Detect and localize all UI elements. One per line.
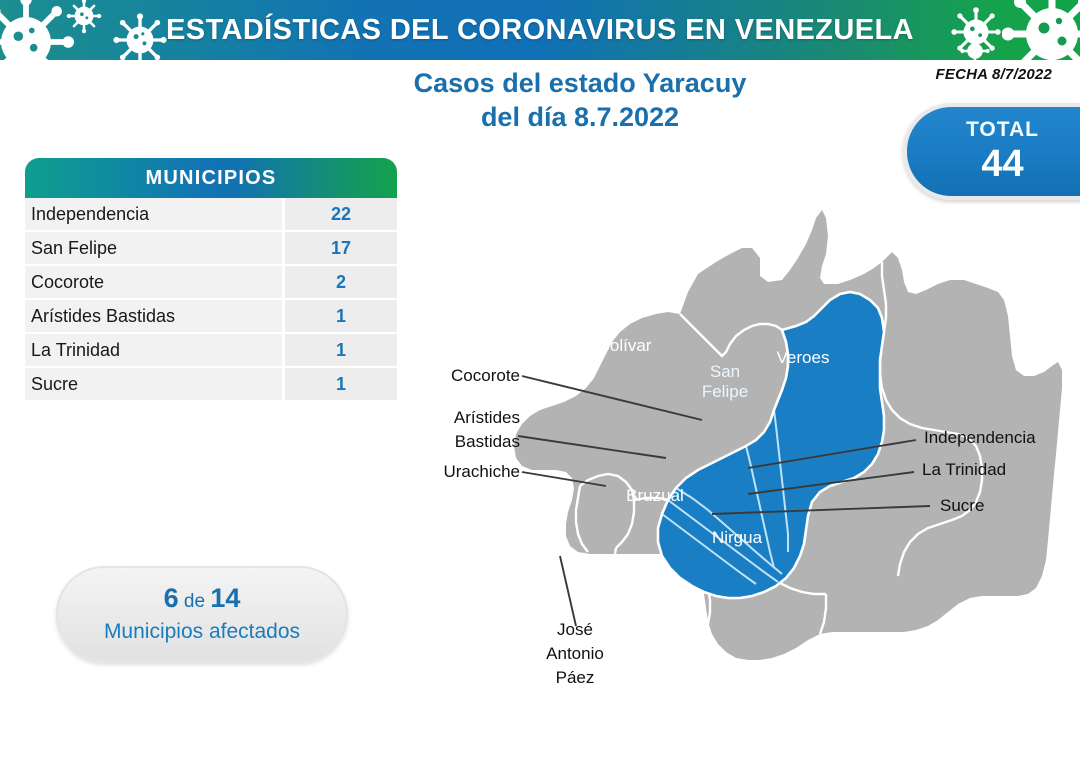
leader-jose-antonio-paez — [560, 556, 576, 626]
afectados-connector: de — [179, 591, 211, 612]
chart-title-line1: Casos del estado Yaracuy — [414, 68, 747, 98]
afectados-total: 14 — [210, 583, 240, 613]
callout-bastidas: Bastidas — [455, 432, 520, 451]
table-row: San Felipe 17 — [25, 232, 397, 266]
municipio-name: Cocorote — [25, 266, 282, 298]
callout-paez: Páez — [556, 668, 595, 687]
yaracuy-map: Manuel Monge Bolívar Veroes San Felipe B… — [430, 196, 1080, 706]
callout-jose-antonio-paez: José Antonio Páez — [510, 618, 640, 690]
municipio-value: 2 — [282, 266, 397, 298]
table-row: Sucre 1 — [25, 368, 397, 402]
table-row: Cocorote 2 — [25, 266, 397, 300]
callout-urachiche: Urachiche — [412, 460, 520, 484]
total-label: TOTAL — [966, 118, 1039, 142]
total-value: 44 — [981, 143, 1023, 185]
municipio-name: Arístides Bastidas — [25, 300, 282, 332]
afectados-count: 6 — [164, 583, 179, 613]
callout-sucre: Sucre — [940, 494, 1060, 518]
callout-aristides: Arístides — [454, 408, 520, 427]
municipios-afectados-badge: 6 de 14 Municipios afectados — [56, 566, 348, 662]
table-row: La Trinidad 1 — [25, 334, 397, 368]
page-title: ESTADÍSTICAS DEL CORONAVIRUS EN VENEZUEL… — [0, 0, 1080, 60]
chart-title-line2: del día 8.7.2022 — [300, 100, 860, 134]
municipio-name: San Felipe — [25, 232, 282, 264]
table-header: MUNICIPIOS — [25, 158, 397, 198]
municipio-value: 17 — [282, 232, 397, 264]
municipio-value: 1 — [282, 368, 397, 400]
fecha-label: FECHA 8/7/2022 — [936, 66, 1052, 83]
callout-independencia: Independencia — [924, 426, 1080, 450]
header-banner: ESTADÍSTICAS DEL CORONAVIRUS EN VENEZUEL… — [0, 0, 1080, 60]
chart-title: Casos del estado Yaracuy del día 8.7.202… — [300, 66, 860, 134]
callout-aristides-bastidas: Arístides Bastidas — [414, 406, 520, 454]
afectados-ratio: 6 de 14 — [164, 583, 241, 617]
table-row: Independencia 22 — [25, 198, 397, 232]
municipio-name: Sucre — [25, 368, 282, 400]
municipio-name: La Trinidad — [25, 334, 282, 366]
table-row: Arístides Bastidas 1 — [25, 300, 397, 334]
callout-cocorote: Cocorote — [420, 364, 520, 388]
callout-la-trinidad: La Trinidad — [922, 458, 1072, 482]
callout-jose: José — [557, 620, 593, 639]
municipio-value: 22 — [282, 198, 397, 230]
callout-antonio: Antonio — [546, 644, 604, 663]
total-badge: TOTAL 44 — [903, 103, 1080, 200]
afectados-caption: Municipios afectados — [104, 619, 300, 645]
municipios-table: MUNICIPIOS Independencia 22 San Felipe 1… — [25, 158, 397, 402]
municipio-name: Independencia — [25, 198, 282, 230]
municipio-value: 1 — [282, 334, 397, 366]
municipio-value: 1 — [282, 300, 397, 332]
table-header-label: MUNICIPIOS — [146, 167, 277, 190]
